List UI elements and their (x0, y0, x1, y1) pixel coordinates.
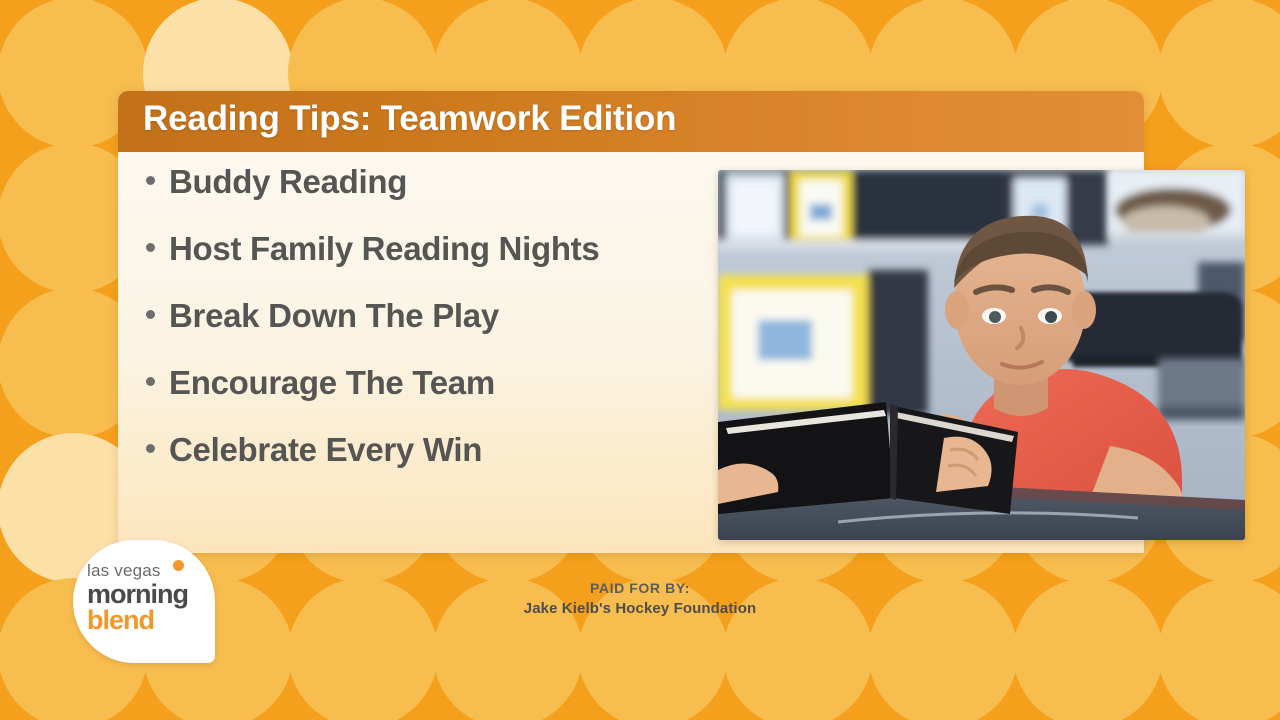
bullet-icon (146, 243, 155, 252)
las-vegas-morning-blend-logo: las vegas morning blend (73, 540, 215, 663)
list-item: Break Down The Play (146, 297, 726, 364)
background-dot (1158, 0, 1280, 148)
list-item-label: Buddy Reading (169, 163, 407, 201)
list-item: Celebrate Every Win (146, 431, 726, 498)
logo-accent-dot-icon (173, 560, 184, 571)
card-header-bar: Reading Tips: Teamwork Edition (118, 91, 1144, 152)
bullet-icon (146, 310, 155, 319)
bullet-icon (146, 444, 155, 453)
list-item-label: Celebrate Every Win (169, 431, 482, 469)
background-dot (433, 578, 583, 720)
background-dot (868, 578, 1018, 720)
list-item: Buddy Reading (146, 163, 726, 230)
list-item: Encourage The Team (146, 364, 726, 431)
boy-reading-photo (718, 170, 1245, 540)
logo-line-blend: blend (87, 607, 215, 633)
background-dot (723, 578, 873, 720)
tips-list: Buddy Reading Host Family Reading Nights… (146, 163, 726, 498)
list-item-label: Break Down The Play (169, 297, 499, 335)
background-dot (1158, 578, 1280, 720)
page-title: Reading Tips: Teamwork Edition (143, 99, 676, 139)
bullet-icon (146, 377, 155, 386)
background-dot (1013, 578, 1163, 720)
list-item: Host Family Reading Nights (146, 230, 726, 297)
list-item-label: Encourage The Team (169, 364, 495, 402)
logo-line-las-vegas: las vegas (87, 562, 215, 580)
bullet-icon (146, 176, 155, 185)
list-item-label: Host Family Reading Nights (169, 230, 599, 268)
background-dot (0, 0, 3, 3)
background-dot (578, 578, 728, 720)
logo-line-morning: morning (87, 581, 215, 607)
background-dot (288, 578, 438, 720)
logo-text-group: las vegas morning blend (73, 562, 215, 633)
